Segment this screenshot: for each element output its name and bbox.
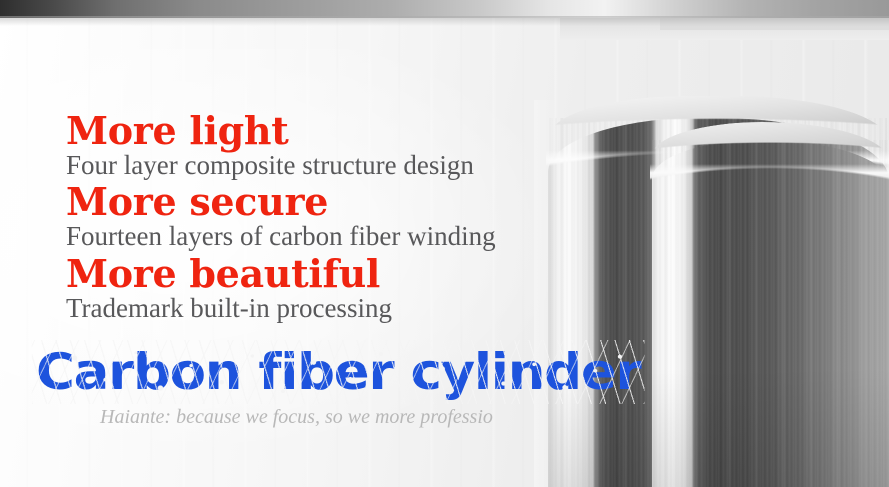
feature-subtext: Trademark built-in processing [66,293,566,325]
feature-heading: More beautiful [66,255,566,293]
feature-item: More secure Fourteen layers of carbon fi… [66,183,566,252]
carbon-fiber-cylinder-photo [548,0,889,487]
product-title: Carbon fiber cylinder [36,346,640,398]
top-shadow-band-fade [0,16,889,26]
feature-item: More light Four layer composite structur… [66,112,566,181]
feature-list: More light Four layer composite structur… [66,112,566,326]
feature-heading: More light [66,112,566,150]
product-title-block: Carbon fiber cylinder Haiante: because w… [36,346,576,429]
product-banner: More light Four layer composite structur… [0,0,889,487]
feature-item: More beautiful Trademark built-in proces… [66,255,566,324]
feature-subtext: Four layer composite structure design [66,150,566,182]
product-tagline: Haiante: because we focus, so we more pr… [100,406,576,429]
feature-subtext: Fourteen layers of carbon fiber winding [66,221,566,253]
cylinder-inner-rim-highlight [650,116,889,212]
feature-heading: More secure [66,183,566,221]
